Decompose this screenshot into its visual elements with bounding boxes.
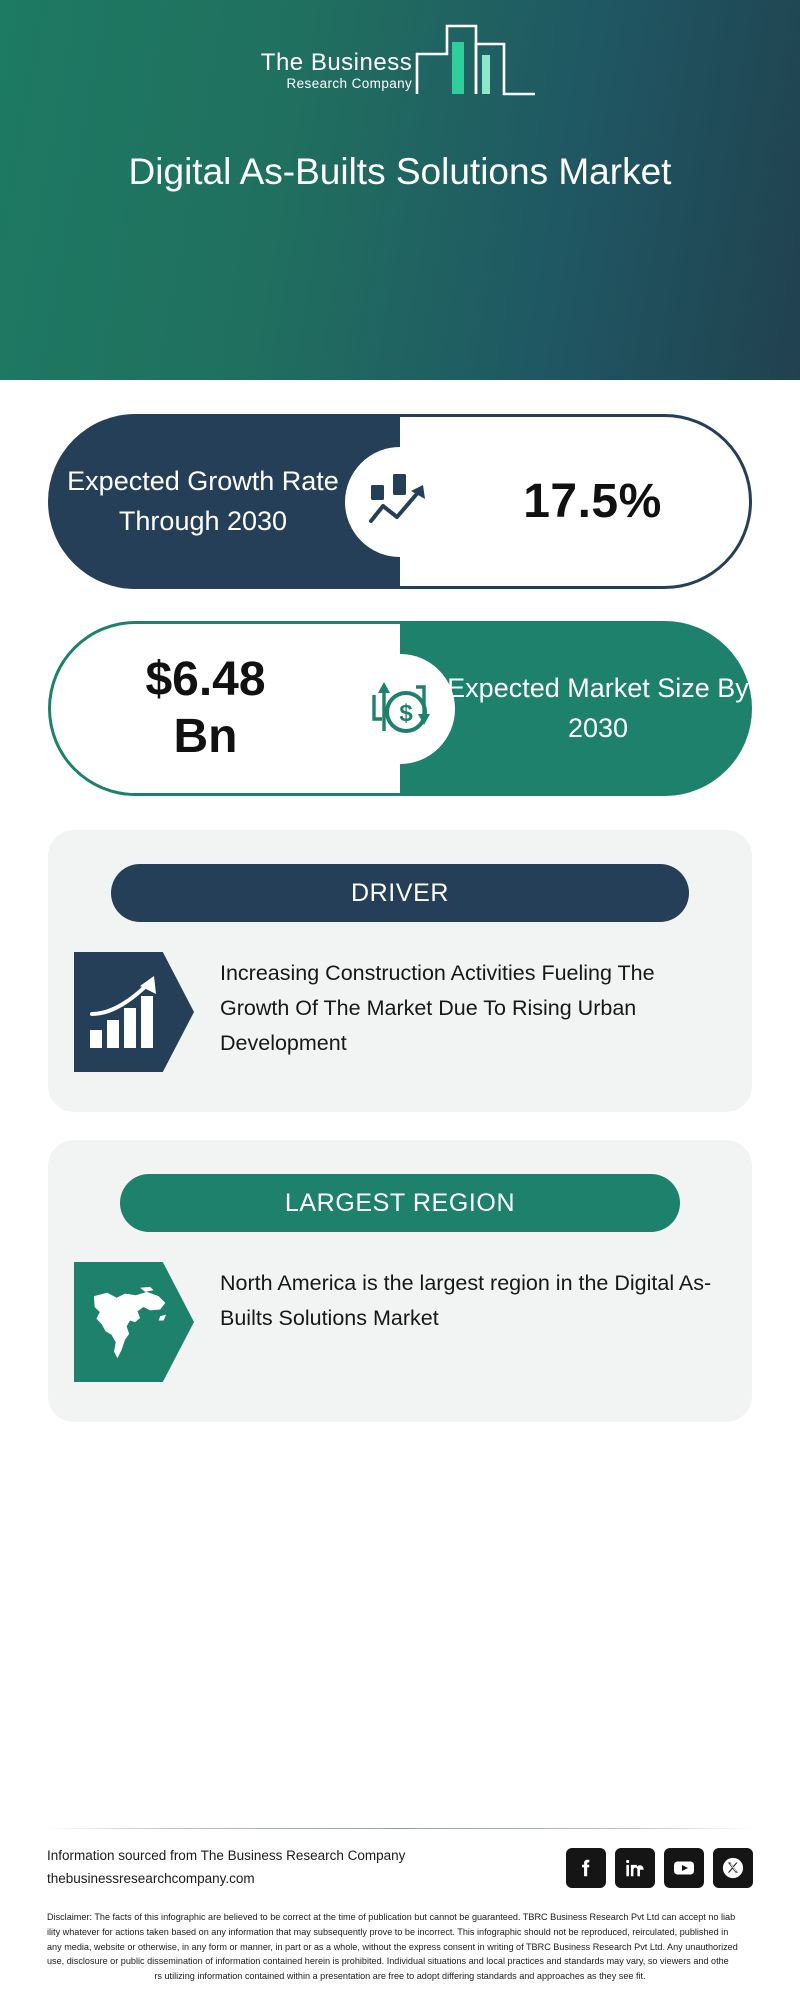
driver-body: Increasing Construction Activities Fueli… — [48, 922, 752, 1072]
linkedin-icon[interactable] — [615, 1848, 655, 1888]
brand-logo-line2: Research Company — [286, 75, 412, 93]
dollar-exchange-icon: $ — [347, 656, 453, 762]
largest-region-badge: LARGEST REGION — [120, 1174, 680, 1232]
largest-region-body: North America is the largest region in t… — [48, 1232, 752, 1382]
disclaimer-line-3: any media, website or otherwise, in any … — [47, 1940, 753, 1955]
disclaimer-line-1: Disclaimer: The facts of this infographi… — [47, 1910, 753, 1925]
source-line2[interactable]: thebusinessresearchcompany.com — [47, 1868, 405, 1890]
driver-badge: DRIVER — [111, 864, 689, 922]
header-banner: The Business Research Company Digital As… — [0, 0, 800, 380]
driver-section: DRIVER Increasing Construction Activitie… — [48, 830, 752, 1112]
growth-rate-value: 17.5% — [487, 474, 662, 529]
brand-logo-text: The Business Research Company — [261, 50, 412, 103]
disclaimer-text: Disclaimer: The facts of this infographi… — [47, 1902, 753, 2000]
north-america-map-icon — [74, 1262, 194, 1382]
market-size-card: $6.48 Bn Expected Market Size By 2030 $ — [48, 621, 752, 796]
footer: Information sourced from The Business Re… — [0, 1828, 800, 2000]
market-size-value-line1: $6.48 — [145, 653, 265, 706]
bar-chart-logo-icon — [414, 22, 539, 103]
x-twitter-icon[interactable] — [713, 1848, 753, 1888]
brand-logo-line1: The Business — [261, 50, 412, 75]
growth-rate-card: Expected Growth Rate Through 2030 17.5% — [48, 414, 752, 589]
disclaimer-line-2: ility whatever for actions taken based o… — [47, 1925, 753, 1940]
largest-region-section: LARGEST REGION North America is the larg… — [48, 1140, 752, 1422]
bar-chart-growth-icon — [74, 952, 194, 1072]
facebook-icon[interactable] — [566, 1848, 606, 1888]
footer-row: Information sourced from The Business Re… — [47, 1829, 753, 1902]
page-title: Digital As-Builts Solutions Market — [60, 148, 740, 195]
source-attribution: Information sourced from The Business Re… — [47, 1845, 405, 1890]
market-size-value-line2: Bn — [174, 710, 238, 763]
source-line1: Information sourced from The Business Re… — [47, 1845, 405, 1867]
social-links — [566, 1848, 753, 1888]
largest-region-text: North America is the largest region in t… — [194, 1262, 718, 1336]
disclaimer-line-4: use, disclosure or public dissemination … — [47, 1954, 753, 1969]
brand-logo: The Business Research Company — [0, 22, 800, 103]
disclaimer-line-5: rs utilizing information contained withi… — [47, 1969, 753, 1984]
svg-text:$: $ — [399, 700, 413, 727]
driver-text: Increasing Construction Activities Fueli… — [194, 952, 718, 1060]
growth-chart-icon — [347, 449, 453, 555]
youtube-icon[interactable] — [664, 1848, 704, 1888]
